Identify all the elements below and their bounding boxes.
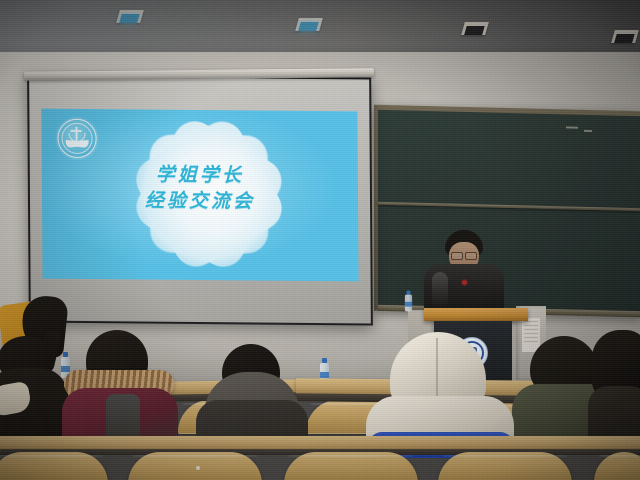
projection-screen-surface: 学姐学长 经验交流会 xyxy=(29,77,371,324)
chalkboard-divider xyxy=(378,202,640,211)
ceiling-light-3-lamp xyxy=(464,26,485,35)
anchor-crossbar xyxy=(71,130,82,132)
chalk-mark xyxy=(584,130,592,132)
open-book-icon xyxy=(66,140,89,148)
presenter xyxy=(418,230,510,320)
presentation-slide: 学姐学长 经验交流会 xyxy=(41,109,358,282)
slide-title-line1: 学姐学长 xyxy=(42,161,358,190)
student-fur-hood-maroon xyxy=(58,330,188,448)
seat-row1-screw xyxy=(196,466,200,470)
ceiling-light-4 xyxy=(611,30,639,43)
ceiling-light-1 xyxy=(116,10,144,23)
seat-row1-5[interactable] xyxy=(594,452,640,480)
student-gray-hoodie xyxy=(196,344,308,450)
presenter-jacket-highlight xyxy=(432,272,448,308)
seat-row1-3[interactable] xyxy=(284,452,418,480)
ceiling-light-2 xyxy=(295,18,323,31)
seat-row1-1[interactable] xyxy=(0,452,108,480)
student-dark-hair-far-right xyxy=(592,330,640,450)
lectern-top xyxy=(424,308,528,321)
desk-row-front xyxy=(0,436,640,450)
chalk-mark xyxy=(566,126,578,128)
bottle-label xyxy=(405,302,412,307)
glasses-icon xyxy=(451,252,477,258)
water-bottle-podium-left xyxy=(405,291,412,312)
university-emblem-icon xyxy=(57,119,96,158)
slide-title-line2: 经验交流会 xyxy=(42,187,358,216)
seat-row1-2[interactable] xyxy=(128,452,262,480)
ceiling-light-3 xyxy=(461,22,489,35)
presenter-badge xyxy=(462,280,467,285)
bottle-label xyxy=(320,372,329,378)
ceiling-light-1-lamp xyxy=(119,14,140,23)
projection-screen: 学姐学长 经验交流会 xyxy=(27,75,373,326)
ceiling-light-2-lamp xyxy=(298,22,319,31)
ceiling-light-4-lamp xyxy=(614,34,635,43)
seat-row1-4[interactable] xyxy=(438,452,572,480)
lecture-hall-photo: 学姐学长 经验交流会 xyxy=(0,0,640,480)
